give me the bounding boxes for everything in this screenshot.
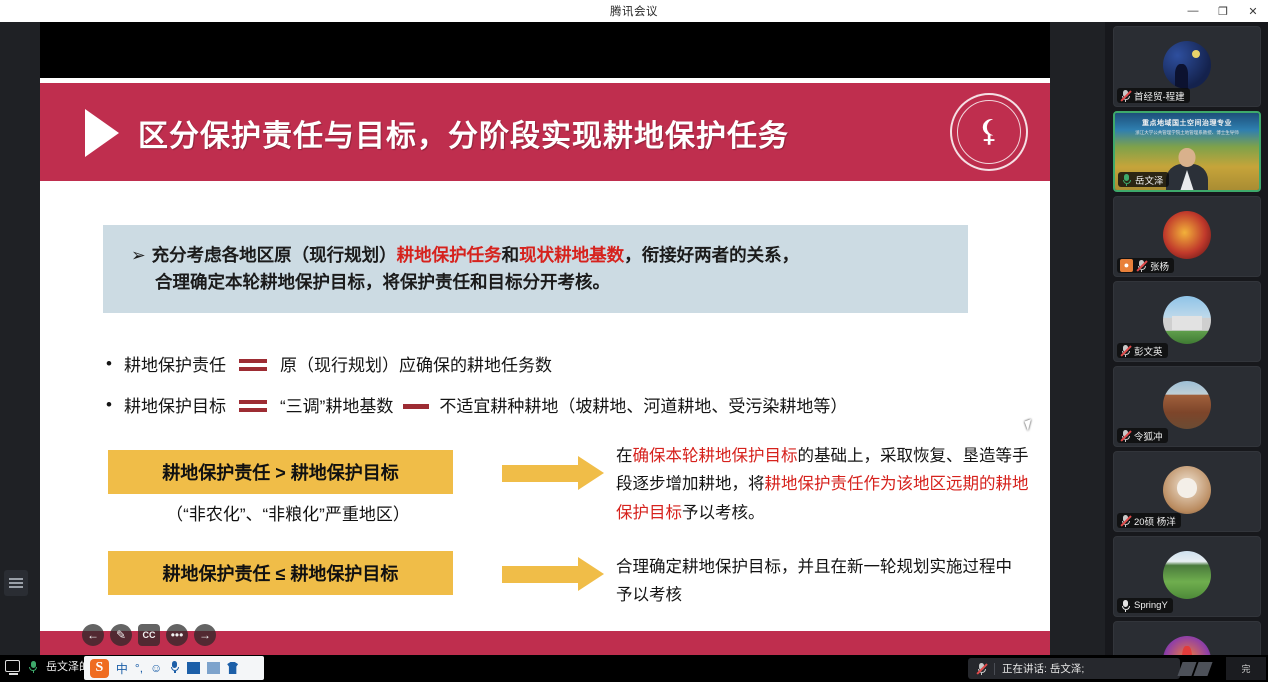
presentation-controls: ← ✎ CC ••• → <box>82 624 216 646</box>
mic-icon <box>25 658 41 674</box>
powerpoint-slide: 区分保护责任与目标，分阶段实现耕地保护任务 ⚸ ➢充分考虑各地区原（现行规划）耕… <box>40 78 1050 655</box>
bullet-value-1: 原（现行规划）应确保的耕地任务数 <box>280 351 552 376</box>
maximize-button[interactable]: ❐ <box>1208 0 1238 22</box>
participant-tile-3[interactable]: 彭文英 <box>1113 281 1261 362</box>
logo-emblem: ⚸ <box>978 117 1000 147</box>
participant-name: 彭文英 <box>1134 344 1163 358</box>
windows-taskbar: 岳文泽的屏… S 中 °, ☺ 正在讲话: 岳文泽; 完 <box>0 655 1268 682</box>
arrow-right-icon-1 <box>502 456 607 490</box>
mic-muted-icon[interactable] <box>976 662 987 675</box>
apps-grid-icon[interactable] <box>245 662 258 674</box>
participant-nametag: 令狐冲 <box>1117 428 1168 443</box>
tray-end-button[interactable]: 完 <box>1226 657 1266 680</box>
mic-muted-icon <box>1120 429 1131 442</box>
speaker-figure <box>1164 146 1210 190</box>
participant-nametag: ● 张杨 <box>1117 258 1174 273</box>
callout-text-b: 和 <box>502 245 520 265</box>
bullet-row-2: • 耕地保护目标 “三调”耕地基数 不适宜耕种耕地（坡耕地、河道耕地、受污染耕地… <box>106 392 1050 417</box>
next-slide-button[interactable]: → <box>194 624 216 646</box>
mic-muted-icon <box>1120 89 1131 102</box>
triangle-icon <box>85 109 119 157</box>
avatar <box>1163 41 1211 89</box>
university-logo-icon: ⚸ <box>950 93 1028 171</box>
participant-name: 20硕 杨洋 <box>1134 514 1176 528</box>
bullet-list: • 耕地保护责任 原（现行规划）应确保的耕地任务数 • 耕地保护目标 “三调”耕… <box>106 351 1050 433</box>
list-icon <box>9 576 23 590</box>
participant-tile-6[interactable]: SpringY <box>1113 536 1261 617</box>
slide-title-band: 区分保护责任与目标，分阶段实现耕地保护任务 ⚸ <box>40 83 1050 181</box>
bullet-dot-icon: • <box>106 395 124 415</box>
closed-captions-button[interactable]: CC <box>138 624 160 646</box>
slide-title: 区分保护责任与目标，分阶段实现耕地保护任务 <box>138 111 789 155</box>
mic-muted-icon <box>1120 344 1131 357</box>
case-1-sublabel: （“非农化”、“非粮化”严重地区） <box>108 500 468 525</box>
mic-active-icon <box>1121 173 1132 186</box>
toolbox-icon[interactable] <box>207 662 220 674</box>
participant-tile-2[interactable]: ● 张杨 <box>1113 196 1261 277</box>
shared-screen-stage: 区分保护责任与目标，分阶段实现耕地保护任务 ⚸ ➢充分考虑各地区原（现行规划）耕… <box>0 22 1105 655</box>
case-1-box: 耕地保护责任 > 耕地保护目标 <box>108 450 453 494</box>
participant-tile-4[interactable]: 令狐冲 <box>1113 366 1261 447</box>
bullet-label-2: 耕地保护目标 <box>124 392 226 417</box>
participant-tile-1[interactable]: 重点地域国土空间治理专业 浙江大学公共管理学院土地管理系教授、博士生导师 岳文泽 <box>1113 111 1261 192</box>
case1-text-c: 予以考核。 <box>682 504 765 522</box>
callout-line-1: ➢充分考虑各地区原（现行规划）耕地保护任务和现状耕地基数，衔接好两者的关系， <box>131 242 799 269</box>
speaking-status-bar[interactable]: 正在讲话: 岳文泽; <box>968 658 1180 679</box>
keyboard-icon[interactable] <box>187 662 200 674</box>
video-slide-title: 重点地域国土空间治理专业 <box>1115 118 1259 128</box>
tencent-meeting-window: 腾讯会议 — ❐ ✕ 区分保护责任与目标，分阶段实现耕地保护任务 ⚸ <box>0 0 1268 682</box>
avatar <box>1163 381 1211 429</box>
previous-slide-button[interactable]: ← <box>82 624 104 646</box>
callout-marker-icon: ➢ <box>131 245 146 265</box>
avatar <box>1163 466 1211 514</box>
bullet-dot-icon: • <box>106 354 124 374</box>
callout-text-a: 充分考虑各地区原（现行规划） <box>152 245 397 265</box>
participant-name: SpringY <box>1134 600 1168 611</box>
participant-name: 张杨 <box>1150 259 1169 273</box>
callout-text-c: ，衔接好两者的关系， <box>624 245 799 265</box>
ime-mode-button[interactable]: 中 <box>116 660 128 677</box>
close-button[interactable]: ✕ <box>1238 0 1268 22</box>
equals-icon <box>236 356 270 372</box>
participant-name: 令狐冲 <box>1134 429 1163 443</box>
bullet-value-2b: 不适宜耕种耕地（坡耕地、河道耕地、受污染耕地等） <box>439 392 847 417</box>
skin-icon[interactable] <box>227 662 238 674</box>
bullet-label-1: 耕地保护责任 <box>124 351 226 376</box>
case-2-box: 耕地保护责任 ≤ 耕地保护目标 <box>108 551 453 595</box>
mic-muted-icon <box>1136 259 1147 272</box>
emoji-icon[interactable]: ☺ <box>150 661 162 675</box>
minimize-button[interactable]: — <box>1178 0 1208 22</box>
participant-name: 岳文泽 <box>1135 173 1164 187</box>
window-title: 腾讯会议 <box>610 3 658 19</box>
bullet-row-1: • 耕地保护责任 原（现行规划）应确保的耕地任务数 <box>106 351 1050 376</box>
window-controls: — ❐ ✕ <box>1178 0 1268 22</box>
more-options-button[interactable]: ••• <box>166 624 188 646</box>
avatar <box>1163 296 1211 344</box>
avatar <box>1163 551 1211 599</box>
case1-highlight-1: 确保本轮耕地保护目标 <box>633 447 798 465</box>
participant-tile-5[interactable]: 20硕 杨洋 <box>1113 451 1261 532</box>
participant-name: 首经贸-程建 <box>1134 89 1185 103</box>
mic-icon <box>1120 599 1131 612</box>
case-2-description: 合理确定耕地保护目标，并且在新一轮规划实施过程中予以考核 <box>616 553 1016 610</box>
sogou-logo-icon[interactable]: S <box>90 659 109 678</box>
callout-line-2: 合理确定本轮耕地保护目标，将保护责任和目标分开考核。 <box>131 269 799 296</box>
bullet-value-2a: “三调”耕地基数 <box>280 392 393 417</box>
minus-icon <box>401 397 431 413</box>
sogou-ime-toolbar[interactable]: S 中 °, ☺ <box>84 656 264 680</box>
host-badge-icon: ● <box>1120 259 1133 272</box>
participant-video-rail[interactable]: 首经贸-程建 重点地域国土空间治理专业 浙江大学公共管理学院土地管理系教授、博士… <box>1105 22 1268 655</box>
avatar <box>1163 211 1211 259</box>
participant-nametag: 首经贸-程建 <box>1117 88 1190 103</box>
participant-nametag: SpringY <box>1117 598 1173 613</box>
ime-punctuation-button[interactable]: °, <box>135 661 143 675</box>
meeting-toolbar-collapsed-icon[interactable] <box>1166 659 1224 678</box>
divider <box>994 663 995 675</box>
mic-muted-icon <box>1120 514 1131 527</box>
callout-box: ➢充分考虑各地区原（现行规划）耕地保护任务和现状耕地基数，衔接好两者的关系， 合… <box>103 225 968 313</box>
shared-content-frame: 区分保护责任与目标，分阶段实现耕地保护任务 ⚸ ➢充分考虑各地区原（现行规划）耕… <box>40 22 1050 655</box>
pen-tool-button[interactable]: ✎ <box>110 624 132 646</box>
window-titlebar: 腾讯会议 — ❐ ✕ <box>0 0 1268 22</box>
participant-nametag: 岳文泽 <box>1118 172 1169 187</box>
case-1-description: 在确保本轮耕地保护目标的基础上，采取恢复、垦造等手段逐步增加耕地，将耕地保护责任… <box>616 442 1036 527</box>
participant-nametag: 彭文英 <box>1117 343 1168 358</box>
equals-icon <box>236 397 270 413</box>
monitor-icon <box>4 658 20 674</box>
voice-input-icon[interactable] <box>169 660 180 676</box>
participant-tile-0[interactable]: 首经贸-程建 <box>1113 26 1261 107</box>
participant-nametag: 20硕 杨洋 <box>1117 513 1181 528</box>
speaking-status-text: 正在讲话: 岳文泽; <box>1002 661 1084 676</box>
case1-text-a: 在 <box>616 447 633 465</box>
arrow-right-icon-2 <box>502 557 607 591</box>
callout-highlight-2: 现状耕地基数 <box>519 245 624 265</box>
meeting-side-panel-toggle[interactable] <box>4 570 28 596</box>
screen-top-black-band <box>40 22 1050 78</box>
callout-highlight-1: 耕地保护任务 <box>397 245 502 265</box>
video-slide-subtitle: 浙江大学公共管理学院土地管理系教授、博士生导师 <box>1115 130 1259 136</box>
